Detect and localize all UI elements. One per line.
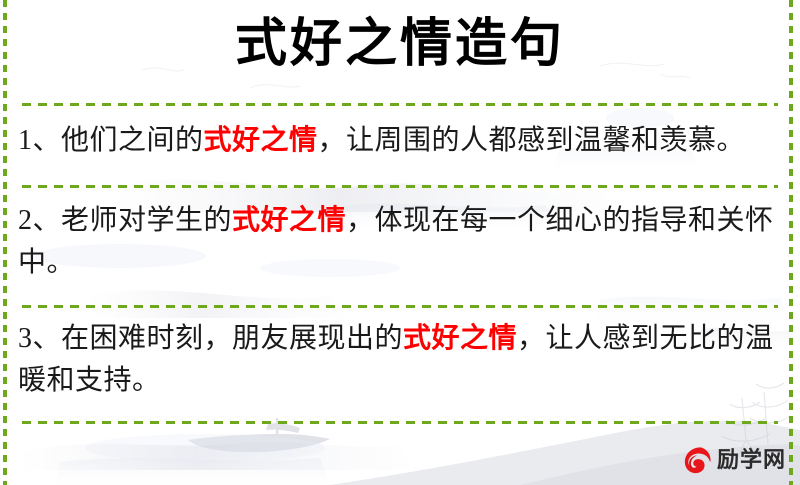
divider-1: [22, 185, 778, 188]
sentence-3-part-1: 在困难时刻，朋友展现出的: [61, 323, 403, 354]
example-sentence-3: 3、在困难时刻，朋友展现出的式好之情，让人感到无比的温暖和支持。: [18, 318, 774, 402]
divider-2: [22, 305, 778, 308]
sentence-3-index: 3、: [18, 323, 61, 354]
example-sentence-2: 2、老师对学生的式好之情，体现在每一个细心的指导和关怀中。: [18, 200, 774, 284]
site-logo[interactable]: 励学网: [683, 443, 786, 477]
example-sentence-1: 1、他们之间的式好之情，让周围的人都感到温馨和羡慕。: [18, 120, 774, 162]
sentence-3-keyword: 式好之情: [403, 323, 517, 354]
sentence-1-part-3: ，让周围的人都感到温馨和羡慕。: [318, 125, 746, 156]
slide-canvas: 式好之情造句 1、他们之间的式好之情，让周围的人都感到温馨和羡慕。 2、老师对学…: [0, 0, 800, 485]
page-title: 式好之情造句: [0, 12, 800, 77]
sentence-2-index: 2、: [18, 205, 61, 236]
sentence-2-part-1: 老师对学生的: [61, 205, 232, 236]
divider-bottom: [22, 421, 778, 424]
sentence-1-keyword: 式好之情: [204, 125, 318, 156]
red-swirl-icon: [683, 445, 713, 475]
sentence-1-index: 1、: [18, 125, 61, 156]
logo-text: 励学网: [717, 449, 786, 471]
sentence-2-keyword: 式好之情: [232, 205, 346, 236]
sentence-1-part-1: 他们之间的: [61, 125, 204, 156]
divider-top: [22, 103, 778, 106]
